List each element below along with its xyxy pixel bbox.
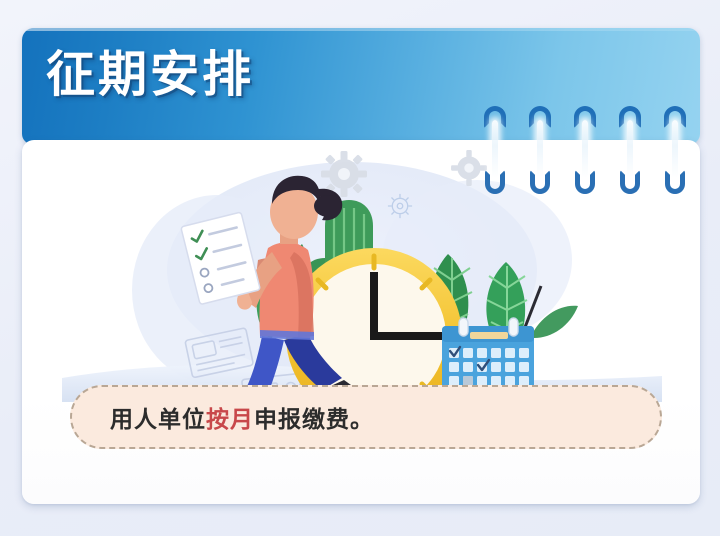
binder-ring-bottom: [575, 170, 595, 194]
note-text-after: 申报缴费。: [254, 407, 374, 433]
binder-ring-bottom: [485, 170, 505, 194]
binder-ring-bottom: [530, 170, 550, 194]
binder-ring: [529, 106, 551, 194]
binder-ring: [664, 106, 686, 194]
page-title: 征期安排: [46, 50, 254, 99]
note-text: 用人单位按月申报缴费。: [72, 400, 374, 434]
note-box: 用人单位按月申报缴费。: [70, 385, 662, 449]
binder-rings: [484, 106, 684, 194]
binder-ring: [484, 106, 506, 194]
binder-ring-bottom: [620, 170, 640, 194]
note-text-highlight: 按月: [206, 407, 254, 433]
binder-ring: [619, 106, 641, 194]
binder-ring: [574, 106, 596, 194]
card-stack: 征期安排: [22, 28, 700, 504]
binder-ring-bottom: [665, 170, 685, 194]
note-text-before: 用人单位: [110, 407, 206, 433]
